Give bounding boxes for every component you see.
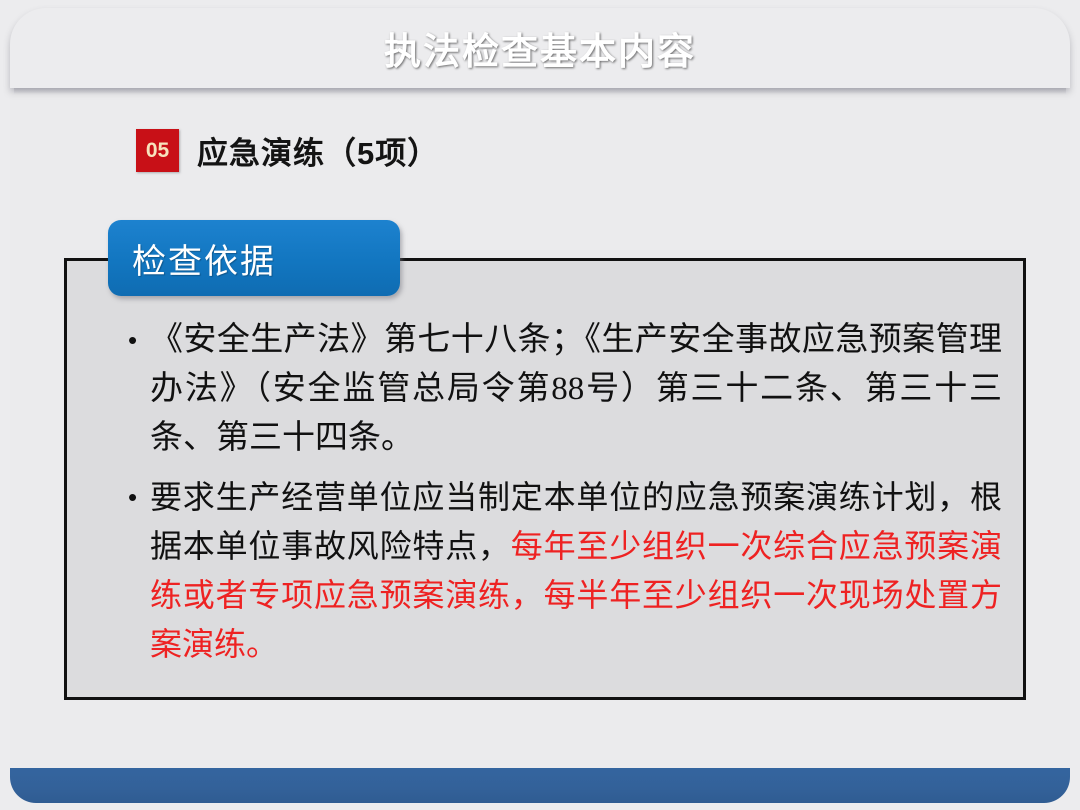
section-title: 应急演练（5项） (197, 128, 439, 173)
footer-bar (10, 768, 1070, 803)
bullet-segment: 《安全生产法》第七十八条；《生产安全事故应急预案管理办法》（安全监管总局令第88… (150, 322, 1002, 456)
slide-title-banner: 执法检查基本内容 (10, 8, 1070, 88)
bullet-text: 要求生产经营单位应当制定本单位的应急预案演练计划，根据本单位事故风险特点，每年至… (150, 473, 1002, 669)
banner-shadow (14, 88, 1066, 94)
section-number-badge: 05 (136, 129, 179, 172)
slide: 执法检查基本内容 05 应急演练（5项） 检查依据 • 《安全生产法》第七十八条… (0, 0, 1080, 810)
list-item: • 要求生产经营单位应当制定本单位的应急预案演练计划，根据本单位事故风险特点，每… (122, 473, 1002, 669)
bullet-list: • 《安全生产法》第七十八条；《生产安全事故应急预案管理办法》（安全监管总局令第… (122, 316, 1002, 679)
section-heading: 05 应急演练（5项） (136, 128, 439, 173)
banner-title: 执法检查基本内容 (384, 21, 696, 75)
inspection-basis-tab[interactable]: 检查依据 (108, 220, 400, 296)
bullet-point-icon: • (122, 473, 150, 522)
bullet-point-icon: • (122, 316, 150, 365)
list-item: • 《安全生产法》第七十八条；《生产安全事故应急预案管理办法》（安全监管总局令第… (122, 316, 1002, 463)
bullet-text: 《安全生产法》第七十八条；《生产安全事故应急预案管理办法》（安全监管总局令第88… (150, 316, 1002, 463)
inspection-basis-tab-label: 检查依据 (132, 234, 276, 283)
